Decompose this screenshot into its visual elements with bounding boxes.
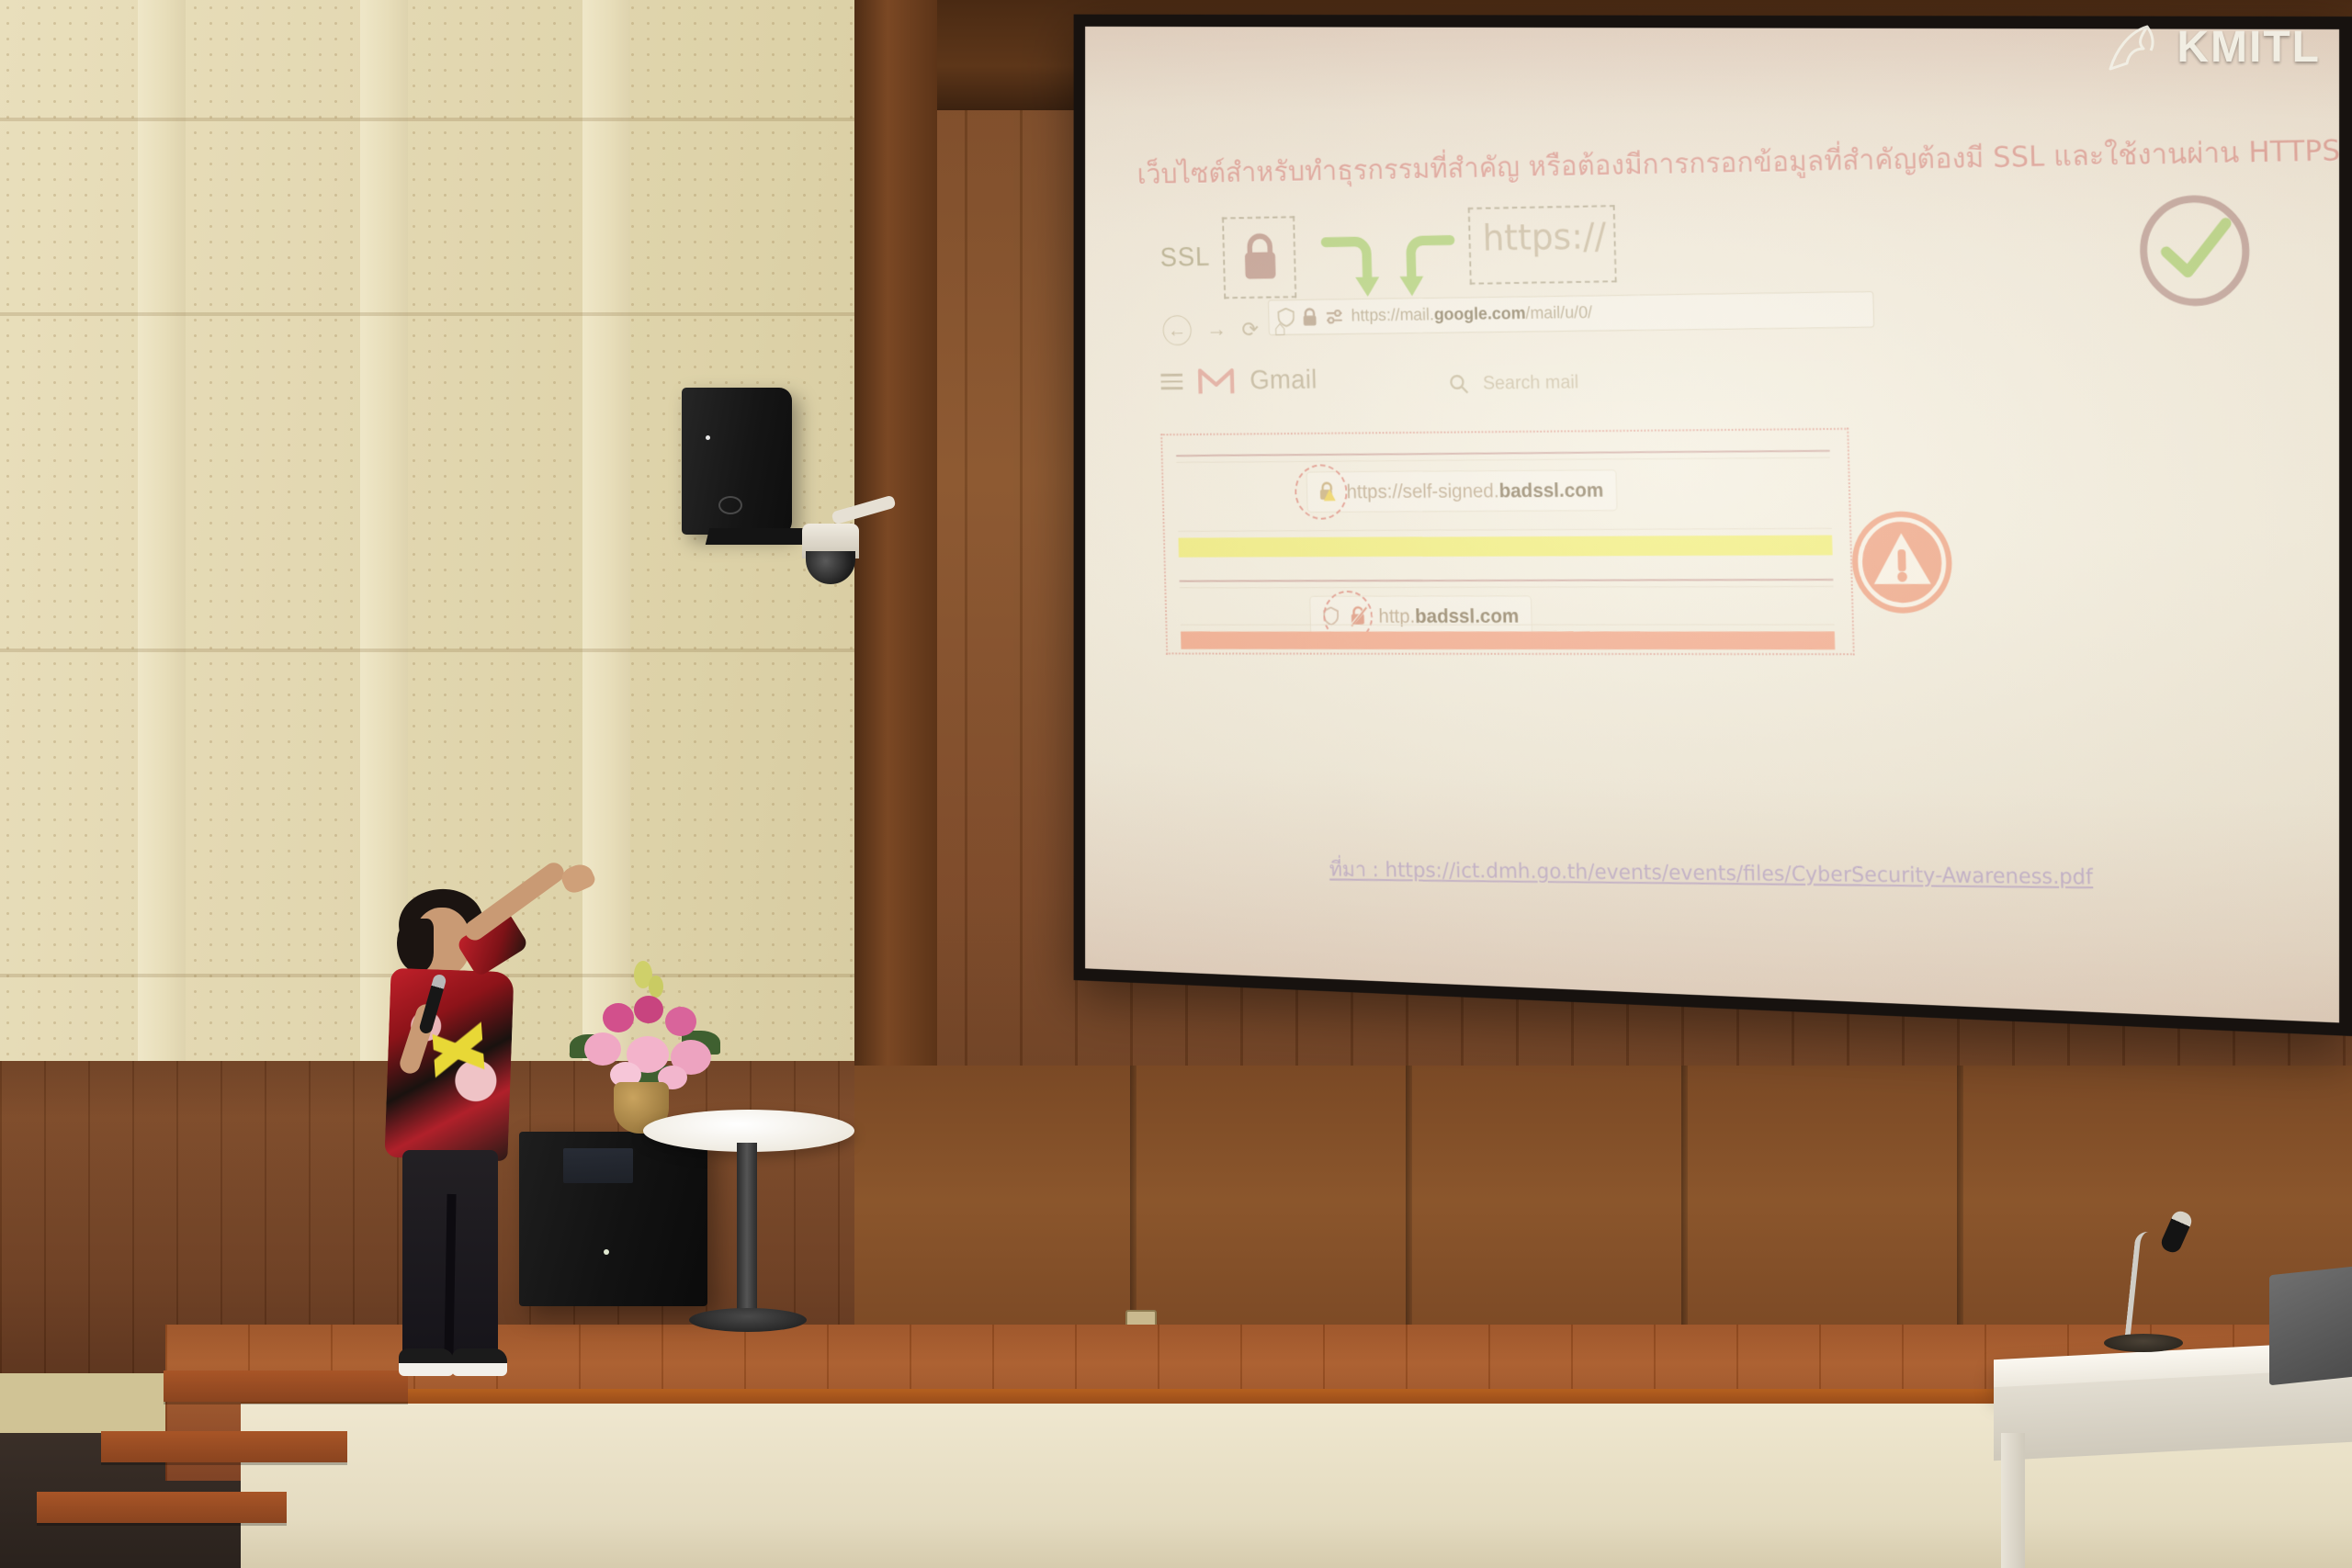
browser-nav-controls[interactable]: ← → ⟳ ⌂	[1162, 314, 1286, 345]
url-path: /mail/u/0/	[1525, 303, 1592, 323]
wall-speaker	[682, 388, 792, 535]
insecure-bar	[1181, 631, 1835, 649]
stage-step	[101, 1431, 347, 1462]
search-icon	[1448, 373, 1469, 395]
gmail-search-placeholder: Search mail	[1483, 372, 1579, 395]
kmitl-watermark-label: KMITL	[2177, 22, 2321, 73]
shirt-graphic	[432, 1018, 486, 1086]
https-label: https://	[1482, 216, 1607, 259]
table-base	[689, 1308, 807, 1332]
panel-rule	[1180, 579, 1834, 582]
speaker-led-icon	[706, 435, 710, 440]
wall-pilaster	[582, 0, 630, 1084]
home-icon[interactable]: ⌂	[1273, 317, 1286, 342]
slide-source-link[interactable]: ที่มา : https://ict.dmh.go.th/events/eve…	[1088, 852, 2339, 897]
slide-content: เว็บไซต์สำหรับทำธุรกรรมที่สำคัญ หรือต้อง…	[1085, 27, 2339, 1010]
browser-url-text: https://mail.google.com/mail/u/0/	[1351, 303, 1593, 326]
wall-seam	[0, 649, 864, 652]
presenter-shoe	[452, 1348, 507, 1376]
back-arrow-icon[interactable]: ←	[1162, 315, 1192, 345]
flower-icon	[603, 1003, 634, 1032]
subwoofer-led-icon	[604, 1249, 609, 1255]
presenter-shoe	[399, 1348, 454, 1376]
check-circle-icon	[2134, 189, 2256, 310]
projection-screen: เว็บไซต์สำหรับทำธุรกรรมที่สำคัญ หรือต้อง…	[1074, 15, 2352, 1036]
slide-title: เว็บไซต์สำหรับทำธุรกรรมที่สำคัญ หรือต้อง…	[1136, 129, 2238, 196]
arrow-down-curve-icon	[1392, 233, 1457, 300]
panel-rule	[1176, 457, 1829, 463]
dome-camera	[802, 524, 859, 558]
ssl-label: SSL	[1159, 243, 1210, 274]
speaker-brand-logo-icon	[718, 496, 742, 514]
url-prefix: https://mail.	[1351, 306, 1435, 326]
flower-icon	[649, 976, 663, 998]
forward-arrow-icon[interactable]: →	[1206, 317, 1227, 342]
lecture-hall-scene: เว็บไซต์สำหรับทำธุรกรรมที่สำคัญ หรือต้อง…	[0, 0, 2352, 1568]
permissions-icon	[1325, 309, 1344, 325]
gmail-header: Gmail Search mail	[1156, 353, 1898, 412]
microphone-base	[2104, 1334, 2183, 1352]
self-signed-url: https://self-signed.badssl.com	[1346, 479, 1603, 503]
desk-leg	[2001, 1433, 2025, 1568]
panel-rule	[1176, 450, 1829, 457]
url-domain: google.com	[1434, 304, 1526, 324]
reload-icon[interactable]: ⟳	[1241, 317, 1259, 343]
url-prefix: https://self-signed.	[1346, 479, 1499, 502]
highlight-circle-self-signed	[1295, 464, 1349, 519]
browser-address-bar[interactable]: https://mail.google.com/mail/u/0/	[1268, 291, 1874, 335]
url-domain: badssl.com	[1498, 479, 1603, 502]
presenter	[349, 882, 570, 1415]
gmail-brand-label: Gmail	[1249, 365, 1317, 396]
stage-step	[37, 1492, 287, 1523]
kmitl-watermark: KMITL	[2107, 22, 2321, 73]
warning-triangle-icon	[1848, 507, 1957, 616]
projection-surface: เว็บไซต์สำหรับทำธุรกรรมที่สำคัญ หรือต้อง…	[1085, 27, 2339, 1023]
padlock-icon	[1302, 307, 1317, 326]
gmail-brand-area: Gmail	[1160, 365, 1317, 397]
flower-bouquet	[562, 955, 728, 1102]
warning-bar	[1178, 536, 1832, 558]
flower-icon	[584, 1032, 621, 1066]
kmitl-swan-logo-icon	[2107, 23, 2164, 73]
flower-icon	[665, 1007, 696, 1036]
panel-rule	[1180, 586, 1834, 588]
subwoofer-control-panel	[563, 1148, 633, 1183]
address-row-self-signed[interactable]: https://self-signed.badssl.com	[1306, 469, 1617, 513]
padlock-icon	[1238, 231, 1282, 282]
flower-icon	[634, 996, 663, 1023]
badssl-examples-panel: https://self-signed.badssl.com	[1160, 428, 1854, 655]
laptop	[2269, 1264, 2352, 1386]
hamburger-menu-icon[interactable]	[1160, 374, 1182, 389]
table-stem	[737, 1143, 757, 1317]
wood-column	[854, 0, 937, 1194]
arrow-down-curve-icon	[1320, 234, 1382, 301]
presenter-hair	[397, 919, 434, 972]
wall-seam	[0, 312, 864, 316]
wall-pilaster	[138, 0, 186, 1084]
panel-rule	[1181, 625, 1835, 626]
gmail-m-logo-icon	[1197, 366, 1235, 396]
panel-rule	[1178, 528, 1832, 532]
gmail-search-box[interactable]: Search mail	[1434, 361, 1844, 403]
wall-seam	[0, 118, 864, 121]
